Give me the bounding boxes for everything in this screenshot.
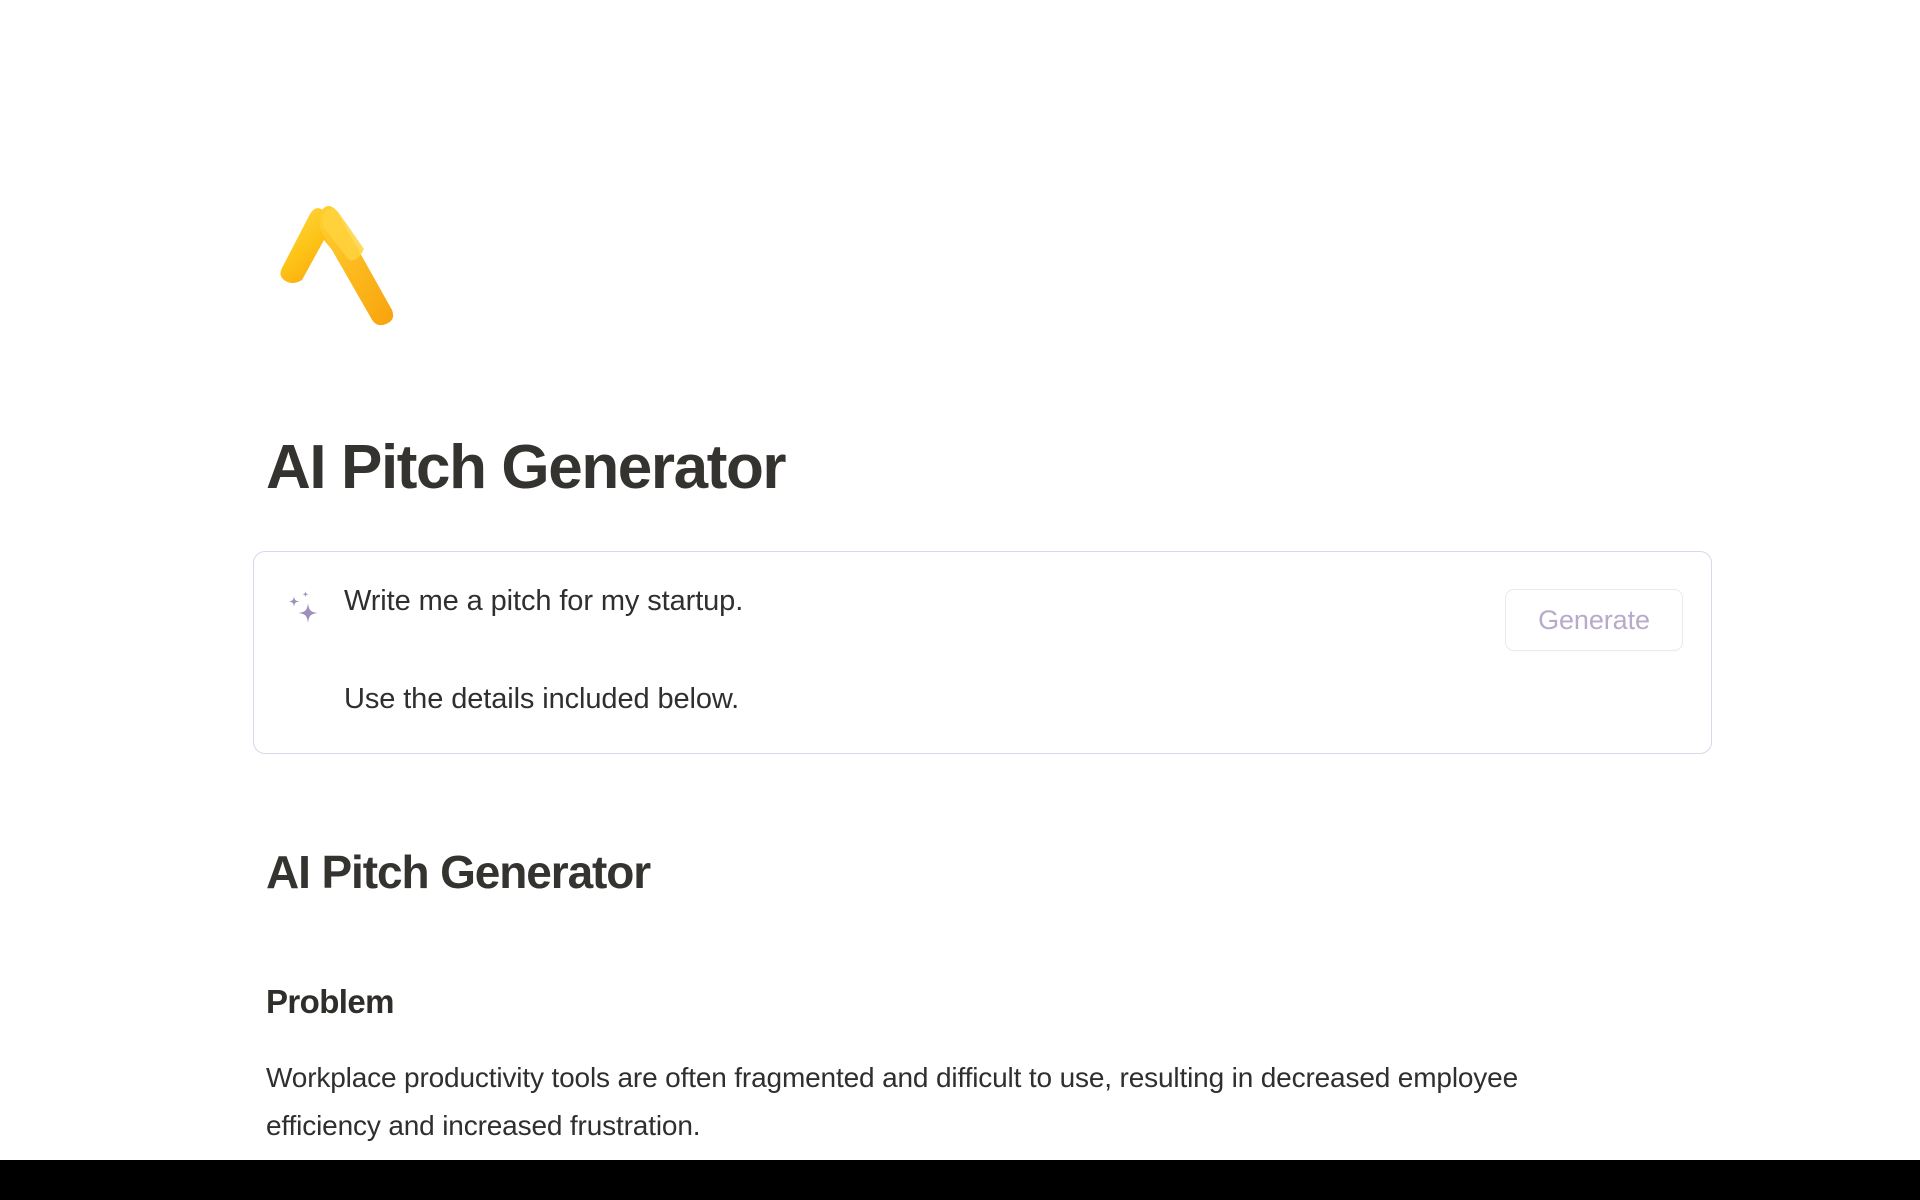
sparkles-icon [283,587,325,629]
generate-button[interactable]: Generate [1505,589,1683,651]
page-root: AI Pitch Generator Write me a pitch for … [0,0,1920,1200]
page-title: AI Pitch Generator [266,435,785,500]
document-title: AI Pitch Generator [266,847,650,898]
app-canvas: AI Pitch Generator Write me a pitch for … [0,0,1920,1160]
prompt-line-1: Write me a pitch for my startup. [344,582,1484,620]
section-heading-problem: Problem [266,983,394,1021]
prompt-card[interactable]: Write me a pitch for my startup. Use the… [253,551,1712,754]
section-body-problem: Workplace productivity tools are often f… [266,1054,1636,1150]
prompt-card-inner: Write me a pitch for my startup. Use the… [254,552,1711,753]
prompt-text-block[interactable]: Write me a pitch for my startup. Use the… [344,582,1484,718]
bottom-black-bar [0,1160,1920,1200]
prompt-line-2: Use the details included below. [344,680,1484,718]
mountain-m-logo-icon [272,198,422,328]
